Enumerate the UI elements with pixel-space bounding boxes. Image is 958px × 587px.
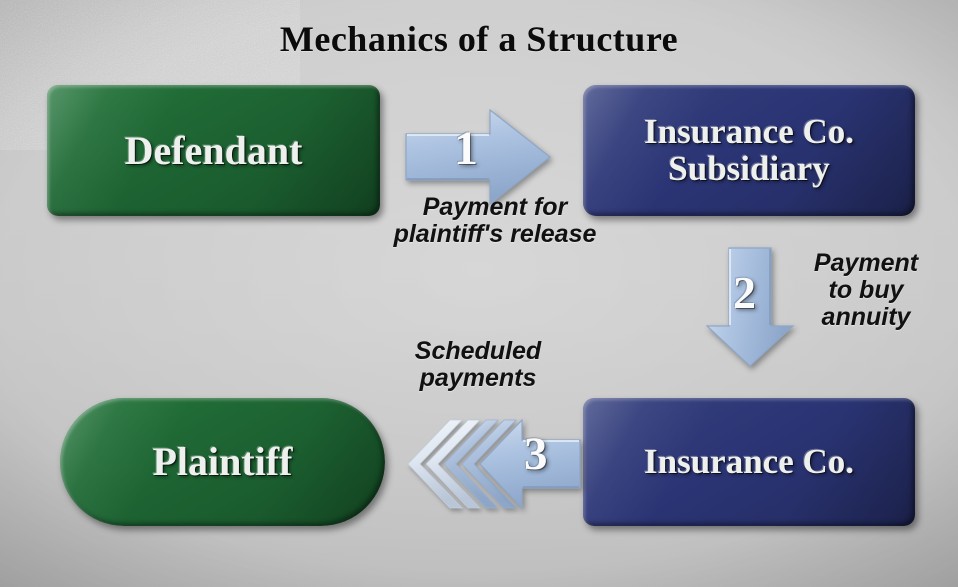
node-insurance-co-subsidiary-label: Insurance Co. Subsidiary [634,114,864,187]
flow-label-3: Scheduled payments [358,338,598,392]
node-plaintiff[interactable]: Plaintiff [60,398,385,526]
flow-label-2: Payment to buy annuity [786,250,946,331]
page-title: Mechanics of a Structure [0,18,958,60]
node-defendant-label: Defendant [115,130,313,172]
node-insurance-co[interactable]: Insurance Co. [583,398,915,526]
node-insurance-co-label: Insurance Co. [634,444,864,480]
node-defendant[interactable]: Defendant [47,85,380,216]
flow-arrow-3-step: 3 [524,427,548,481]
node-plaintiff-label: Plaintiff [143,441,303,483]
flow-arrow-1-step: 1 [454,121,478,176]
flow-arrow-2[interactable]: 2 [704,246,796,368]
flow-arrow-1[interactable]: 1 [404,108,552,206]
flow-arrow-3[interactable]: 3 [404,410,582,518]
flow-arrow-2-step: 2 [733,266,756,319]
flow-label-1: Payment for plaintiff's release [345,194,645,248]
diagram-canvas: Mechanics of a Structure Defendant Insur… [0,0,958,587]
